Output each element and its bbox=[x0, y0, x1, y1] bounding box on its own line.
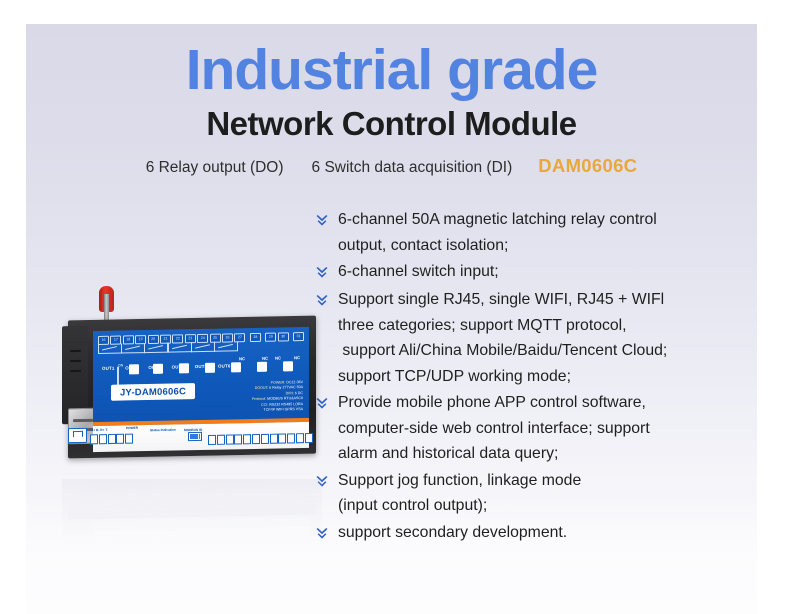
strip-label-power: POWER bbox=[126, 426, 138, 430]
double-chevron-down-icon bbox=[314, 259, 338, 286]
relay-symbol-row: OUT1OUT2OUT3OUT4OUT5OUT6NCNCNCNC bbox=[98, 340, 304, 356]
tagline-row: 6 Relay output (DO) 6 Switch data acquis… bbox=[26, 155, 757, 177]
feature-text: Provide mobile phone APP control softwar… bbox=[338, 390, 650, 467]
feature-item: 6-channel switch input; bbox=[314, 259, 754, 286]
vent-slot bbox=[70, 350, 81, 352]
screw-hole bbox=[231, 362, 241, 372]
feature-line: alarm and historical data query; bbox=[338, 441, 650, 467]
spec-line: TCP/IP WIFI GPRS VSA bbox=[203, 407, 303, 414]
vent-slot bbox=[70, 370, 81, 372]
spec-key: DOOUT: bbox=[255, 386, 269, 390]
output-label: OUT1 bbox=[102, 366, 115, 371]
model-badge: JY-DAM0606C bbox=[111, 383, 195, 401]
feature-list: 6-channel 50A magnetic latching relay co… bbox=[314, 207, 754, 548]
feature-text: support secondary development. bbox=[338, 520, 567, 546]
model-badge-label: JY-DAM0606C bbox=[120, 386, 186, 398]
terminal-pin bbox=[243, 434, 251, 444]
relay-contact-symbol bbox=[214, 341, 238, 351]
reflection-body bbox=[68, 483, 316, 520]
strip-label-signal: A+ B- R+ T- bbox=[91, 428, 108, 432]
spec-value: TCP/IP WIFI GPRS VSA bbox=[264, 407, 303, 412]
feature-line: Support single RJ45, single WIFI, RJ45 +… bbox=[338, 287, 667, 313]
terminal-pin bbox=[125, 434, 133, 444]
led-lamp-icon bbox=[117, 367, 119, 386]
screw-hole bbox=[205, 363, 215, 373]
page-subtitle: Network Control Module bbox=[26, 104, 757, 144]
double-chevron-down-icon bbox=[314, 213, 330, 229]
terminal-pin bbox=[252, 434, 260, 444]
product-banner: Industrial grade Network Control Module … bbox=[26, 24, 757, 614]
relay-contact-symbol bbox=[121, 343, 145, 353]
spec-value: DC12-36V bbox=[285, 380, 303, 384]
terminal-pin bbox=[234, 434, 242, 444]
feature-line: (input control output); bbox=[338, 493, 581, 519]
power-led-indicator: ON bbox=[117, 363, 124, 375]
nc-label: NC bbox=[275, 355, 281, 360]
terminal-pin bbox=[305, 433, 313, 443]
feature-text: 6-channel switch input; bbox=[338, 259, 499, 285]
feature-line: support TCP/UDP working mode; bbox=[338, 364, 667, 390]
nc-label: NC bbox=[262, 356, 268, 361]
spec-key: DIIN: bbox=[286, 391, 294, 395]
feature-text: Support single RJ45, single WIFI, RJ45 +… bbox=[338, 287, 667, 389]
terminal-pin bbox=[261, 434, 269, 444]
product-photo: 16171819202122232425262728293031 OUT1OUT… bbox=[62, 292, 322, 477]
rj45-port-icon bbox=[68, 428, 87, 443]
db9-pin-row bbox=[73, 419, 93, 422]
spec-key: Protocol: bbox=[252, 397, 266, 401]
screw-hole bbox=[153, 364, 163, 374]
spec-value: MODBUS RTU&ASCII bbox=[266, 396, 303, 401]
feature-text: 6-channel 50A magnetic latching relay co… bbox=[338, 207, 657, 258]
feature-line: support secondary development. bbox=[338, 520, 567, 546]
terminal-pin bbox=[270, 434, 278, 444]
bottom-terminal-group-a bbox=[90, 434, 133, 443]
dip-switch-icon bbox=[188, 432, 202, 441]
terminal-pin bbox=[217, 435, 225, 445]
tagline-relay-output: 6 Relay output (DO) bbox=[146, 159, 312, 177]
device-faceplate: 16171819202122232425262728293031 OUT1OUT… bbox=[93, 327, 309, 426]
dip-toggle bbox=[199, 434, 201, 439]
screw-hole bbox=[129, 364, 139, 374]
spec-value: 6 DC bbox=[294, 391, 303, 395]
feature-item: Support jog function, linkage mode(input… bbox=[314, 468, 754, 519]
nc-label: NC bbox=[294, 355, 300, 360]
spec-value: 6 Relay 277VAC 50A bbox=[268, 385, 303, 390]
terminal-pin bbox=[278, 434, 286, 444]
bottom-terminal-group-b bbox=[208, 433, 313, 443]
relay-contact-symbol bbox=[144, 343, 168, 353]
feature-line: 6-channel 50A magnetic latching relay co… bbox=[338, 207, 657, 233]
relay-contact-symbol bbox=[168, 342, 192, 352]
terminal-pin bbox=[90, 434, 98, 444]
feature-line: Support jog function, linkage mode bbox=[338, 468, 581, 494]
spec-value: RS232 RS485 LORA bbox=[268, 402, 303, 407]
nc-label: NC bbox=[239, 356, 245, 361]
terminal-pin bbox=[226, 435, 234, 445]
model-code: DAM0606C bbox=[538, 155, 637, 177]
spec-text-block: POWER: DC12-36VDOOUT: 6 Relay 277VAC 50A… bbox=[203, 380, 303, 414]
screw-hole bbox=[283, 361, 293, 371]
terminal-pin bbox=[99, 434, 107, 444]
device-reflection bbox=[62, 479, 322, 545]
feature-item: 6-channel 50A magnetic latching relay co… bbox=[314, 207, 754, 258]
feature-line: 6-channel switch input; bbox=[338, 259, 499, 285]
screw-hole bbox=[257, 362, 267, 372]
double-chevron-down-icon bbox=[314, 207, 338, 234]
terminal-pin bbox=[108, 434, 116, 444]
feature-item: support secondary development. bbox=[314, 520, 754, 547]
antenna-rod-icon bbox=[104, 294, 109, 320]
terminal-pin bbox=[116, 434, 124, 444]
feature-item: Support single RJ45, single WIFI, RJ45 +… bbox=[314, 287, 754, 389]
output-label: OUT6 bbox=[218, 363, 231, 368]
feature-line: three categories; support MQTT protocol, bbox=[338, 313, 667, 339]
terminal-pin bbox=[296, 433, 304, 443]
terminal-pin bbox=[287, 433, 295, 443]
feature-item: Provide mobile phone APP control softwar… bbox=[314, 390, 754, 467]
strip-label-status: Status Indication bbox=[150, 428, 176, 432]
headline-block: Industrial grade Network Control Module … bbox=[26, 24, 757, 177]
vent-slot bbox=[70, 360, 81, 362]
terminal-pin bbox=[208, 435, 216, 445]
feature-line: output, contact isolation; bbox=[338, 233, 657, 259]
feature-text: Support jog function, linkage mode(input… bbox=[338, 468, 581, 519]
tagline-switch-input: 6 Switch data acquisition (DI) bbox=[312, 159, 539, 177]
feature-line: support Ali/China Mobile/Baidu/Tencent C… bbox=[338, 338, 667, 364]
relay-contact-symbol bbox=[191, 342, 215, 352]
relay-contact-symbol bbox=[98, 344, 122, 354]
spec-key: POWER: bbox=[271, 380, 286, 384]
feature-line: computer-side web control interface; sup… bbox=[338, 416, 650, 442]
screw-hole bbox=[179, 363, 189, 373]
double-chevron-down-icon bbox=[314, 265, 330, 281]
page-title: Industrial grade bbox=[26, 38, 757, 102]
feature-line: Provide mobile phone APP control softwar… bbox=[338, 390, 650, 416]
